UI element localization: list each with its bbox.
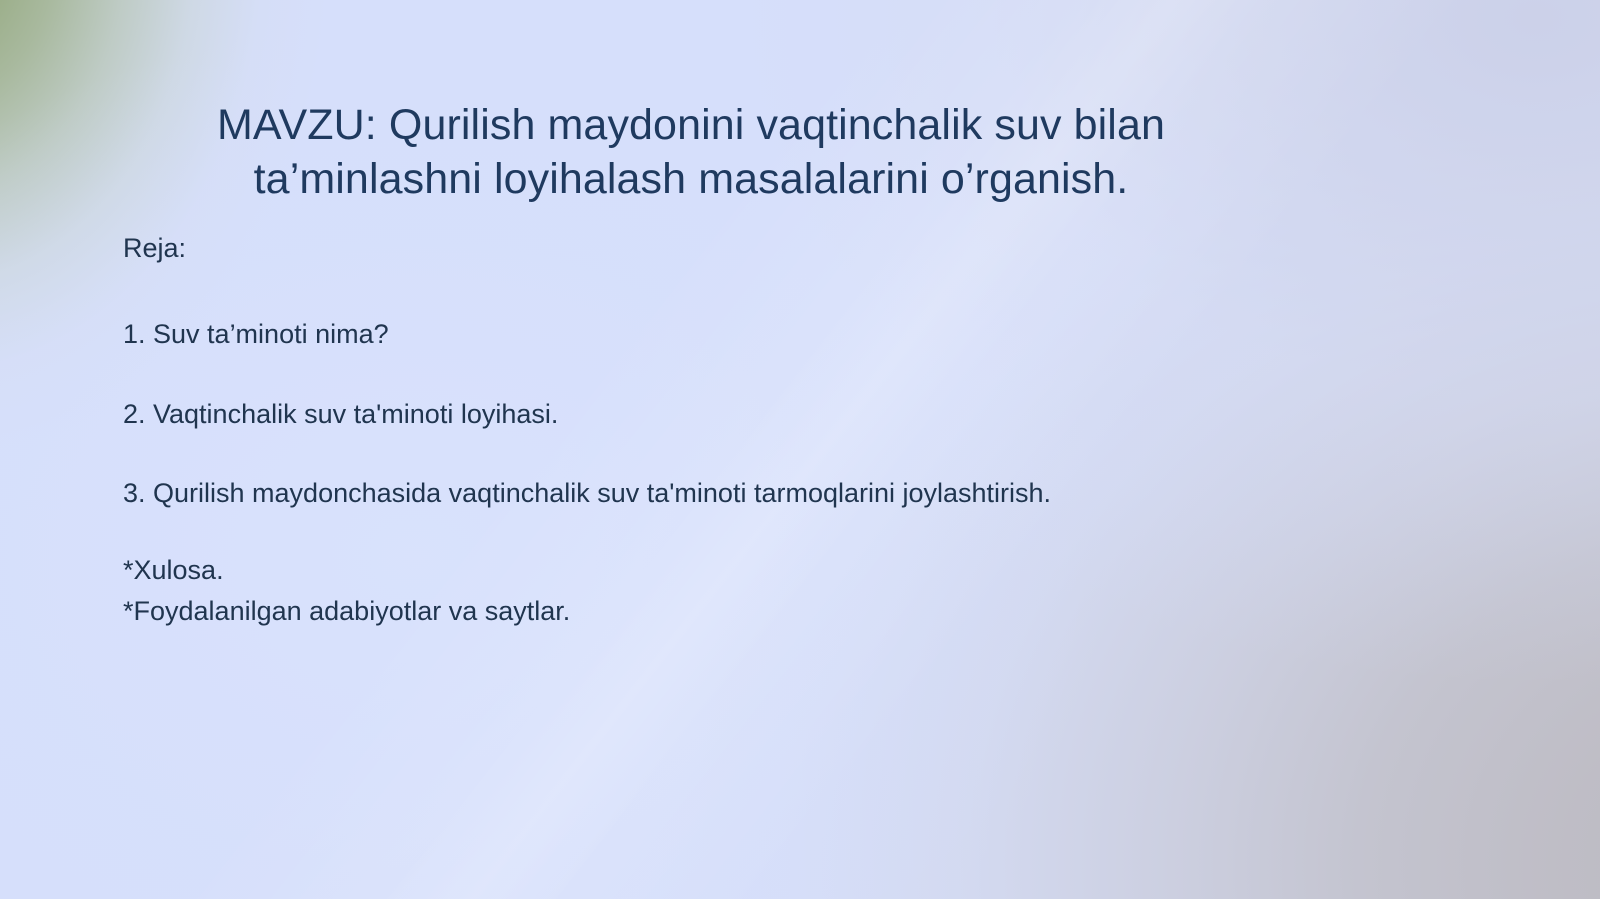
extra-item-foydalanilgan-adabiyotlar: *Foydalanilgan adabiyotlar va saytlar. xyxy=(123,591,1423,632)
spacer xyxy=(123,269,1423,314)
extra-item-xulosa: *Xulosa. xyxy=(123,550,1423,591)
list-item-2: 2. Vaqtinchalik suv ta'minoti loyihasi. xyxy=(123,394,1423,435)
spacer xyxy=(123,355,1423,394)
spacer xyxy=(123,435,1423,473)
spacer xyxy=(123,514,1423,550)
slide-title: MAVZU: Qurilish maydonini vaqtinchalik s… xyxy=(120,98,1262,206)
slide-content: MAVZU: Qurilish maydonini vaqtinchalik s… xyxy=(0,0,1600,899)
list-item-1: 1. Suv ta’minoti nima? xyxy=(123,314,1423,355)
list-item-3: 3. Qurilish maydonchasida vaqtinchalik s… xyxy=(123,473,1423,514)
body-heading-reja: Reja: xyxy=(123,228,1423,269)
slide-body: Reja: 1. Suv ta’minoti nima? 2. Vaqtinch… xyxy=(123,228,1423,632)
presentation-slide: MAVZU: Qurilish maydonini vaqtinchalik s… xyxy=(0,0,1600,899)
